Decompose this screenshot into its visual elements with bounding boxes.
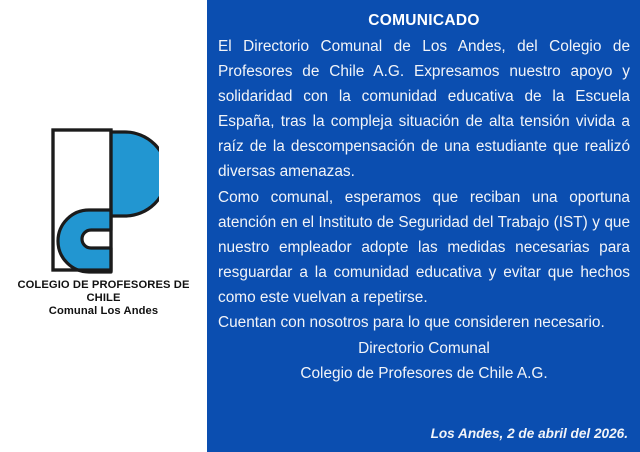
communique-panel: COMUNICADO El Directorio Comunal de Los … [207, 0, 640, 452]
logo-caption: COLEGIO DE PROFESORES DE CHILE Comunal L… [4, 279, 204, 319]
communique-poster: COLEGIO DE PROFESORES DE CHILE Comunal L… [0, 0, 640, 452]
signature-block: Directorio Comunal Colegio de Profesores… [218, 336, 630, 386]
paragraph-2: Como comunal, esperamos que reciban una … [218, 185, 630, 310]
page-title: COMUNICADO [218, 0, 630, 31]
logo-panel: COLEGIO DE PROFESORES DE CHILE Comunal L… [0, 0, 207, 452]
communique-body: El Directorio Comunal de Los Andes, del … [218, 34, 630, 335]
place-and-date: Los Andes, 2 de abril del 2026. [431, 424, 628, 444]
signature-line-1: Directorio Comunal [218, 336, 630, 361]
logo-caption-line-2: Comunal Los Andes [4, 305, 204, 318]
logo-caption-line-1: COLEGIO DE PROFESORES DE CHILE [17, 279, 189, 304]
paragraph-3: Cuentan con nosotros para lo que conside… [218, 310, 630, 335]
logo-block: COLEGIO DE PROFESORES DE CHILE Comunal L… [0, 126, 207, 319]
communique-content: COMUNICADO El Directorio Comunal de Los … [218, 0, 630, 452]
paragraph-1: El Directorio Comunal de Los Andes, del … [218, 34, 630, 185]
signature-line-2: Colegio de Profesores de Chile A.G. [218, 361, 630, 386]
colegio-de-profesores-logo-icon [49, 126, 159, 274]
